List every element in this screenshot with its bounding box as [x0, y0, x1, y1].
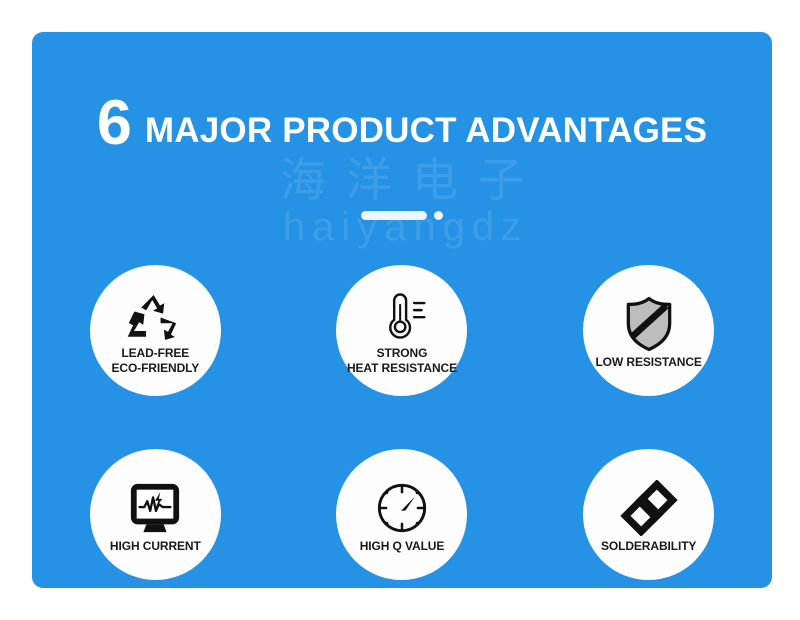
advantages-card: 海洋电子 haiyangdz 6MAJOR PRODUCT ADVANTAGES	[32, 32, 772, 588]
feature-label: HIGH CURRENT	[106, 539, 205, 554]
feature-item-lead-free[interactable]: LEAD-FREE ECO-FRIENDLY	[90, 265, 221, 396]
feature-item-low-resistance[interactable]: LOW RESISTANCE	[583, 265, 714, 396]
divider-bar	[361, 211, 427, 220]
features-grid: LEAD-FREE ECO-FRIENDLY	[32, 238, 772, 588]
watermark: 海洋电子 haiyangdz	[32, 157, 772, 247]
feature-label: LOW RESISTANCE	[591, 355, 705, 370]
poster-canvas: 海洋电子 haiyangdz 6MAJOR PRODUCT ADVANTAGES	[0, 0, 800, 620]
title-text: MAJOR PRODUCT ADVANTAGES	[145, 111, 707, 150]
thermometer-icon	[372, 288, 432, 346]
shield-icon	[624, 295, 674, 353]
title-number: 6	[97, 88, 131, 158]
title-divider	[32, 211, 772, 220]
feature-label: HIGH Q VALUE	[356, 539, 449, 554]
divider-dot	[434, 211, 443, 220]
feature-item-high-q-value[interactable]: HIGH Q VALUE	[336, 449, 467, 580]
feature-item-solderability[interactable]: SOLDERABILITY	[583, 449, 714, 580]
feature-label: STRONG HEAT RESISTANCE	[343, 346, 461, 375]
feature-item-high-current[interactable]: HIGH CURRENT	[90, 449, 221, 580]
feature-label: SOLDERABILITY	[597, 539, 700, 554]
page-title: 6MAJOR PRODUCT ADVANTAGES	[32, 92, 772, 155]
gauge-icon	[375, 479, 429, 537]
feature-label: LEAD-FREE ECO-FRIENDLY	[107, 346, 203, 375]
watermark-cn-text: 海洋电子	[32, 157, 772, 203]
chain-link-icon	[620, 479, 678, 537]
oscilloscope-icon	[128, 479, 182, 537]
feature-item-heat-resistance[interactable]: STRONG HEAT RESISTANCE	[336, 265, 467, 396]
recycle-icon	[126, 288, 184, 346]
